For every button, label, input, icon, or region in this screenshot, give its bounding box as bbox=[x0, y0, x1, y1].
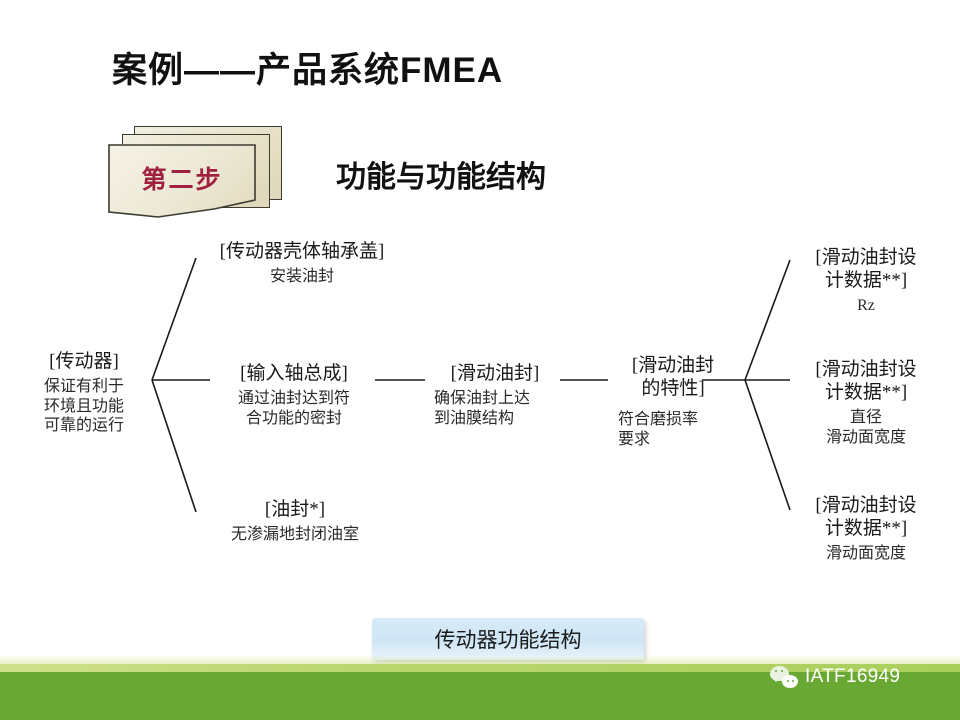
node-root-name: [传动器] bbox=[20, 350, 148, 373]
diagram-caption: 传动器功能结构 bbox=[372, 618, 644, 660]
node-design-data-diameter-name: [滑动油封设 计数据**] bbox=[788, 358, 944, 404]
page-title: 案例——产品系统FMEA bbox=[112, 42, 503, 93]
node-housing-bearing-cover: [传动器壳体轴承盖] 安装油封 bbox=[182, 240, 422, 287]
node-input-shaft-assembly-name: [输入轴总成] bbox=[212, 362, 376, 385]
node-sliding-seal-characteristics-function: 符合磨损率 要求 bbox=[610, 410, 736, 449]
node-design-data-width-function: 滑动面宽度 bbox=[788, 544, 944, 564]
node-design-data-diameter-function: 直径 滑动面宽度 bbox=[788, 408, 944, 447]
node-housing-bearing-cover-function: 安装油封 bbox=[182, 267, 422, 287]
node-sliding-seal-name: [滑动油封] bbox=[428, 362, 562, 385]
step-badge: 第二步 bbox=[108, 126, 288, 222]
node-sliding-seal: [滑动油封] 确保油封上达 到油膜结构 bbox=[428, 362, 562, 428]
node-design-data-rz: [滑动油封设 计数据**] Rz bbox=[788, 246, 944, 316]
section-heading: 功能与功能结构 bbox=[336, 152, 546, 196]
node-oil-seal-name: [油封*] bbox=[186, 498, 404, 521]
node-sliding-seal-characteristics: [滑动油封 的特性] 符合磨损率 要求 bbox=[610, 354, 736, 449]
node-design-data-rz-name: [滑动油封设 计数据**] bbox=[788, 246, 944, 292]
watermark: IATF16949 bbox=[770, 666, 900, 688]
node-input-shaft-assembly: [输入轴总成] 通过油封达到符 合功能的密封 bbox=[212, 362, 376, 428]
function-structure-diagram: [传动器] 保证有利于 环境且功能 可靠的运行 [传动器壳体轴承盖] 安装油封 … bbox=[0, 230, 960, 620]
step-badge-label: 第二步 bbox=[108, 144, 256, 212]
node-design-data-width: [滑动油封设 计数据**] 滑动面宽度 bbox=[788, 494, 944, 564]
node-oil-seal-function: 无渗漏地封闭油室 bbox=[186, 525, 404, 545]
node-design-data-rz-function: Rz bbox=[788, 296, 944, 316]
node-design-data-width-name: [滑动油封设 计数据**] bbox=[788, 494, 944, 540]
node-input-shaft-assembly-function: 通过油封达到符 合功能的密封 bbox=[212, 389, 376, 428]
node-sliding-seal-function: 确保油封上达 到油膜结构 bbox=[428, 389, 562, 428]
watermark-label: IATF16949 bbox=[805, 666, 900, 688]
node-sliding-seal-characteristics-name: [滑动油封 的特性] bbox=[610, 354, 736, 400]
node-housing-bearing-cover-name: [传动器壳体轴承盖] bbox=[182, 240, 422, 263]
node-root: [传动器] 保证有利于 环境且功能 可靠的运行 bbox=[20, 350, 148, 436]
slide-canvas: 案例——产品系统FMEA 第二步 功能与功能结构 bbox=[0, 0, 960, 720]
node-root-function: 保证有利于 环境且功能 可靠的运行 bbox=[20, 377, 148, 436]
node-oil-seal: [油封*] 无渗漏地封闭油室 bbox=[186, 498, 404, 545]
wechat-icon bbox=[770, 666, 798, 688]
node-design-data-diameter: [滑动油封设 计数据**] 直径 滑动面宽度 bbox=[788, 358, 944, 447]
